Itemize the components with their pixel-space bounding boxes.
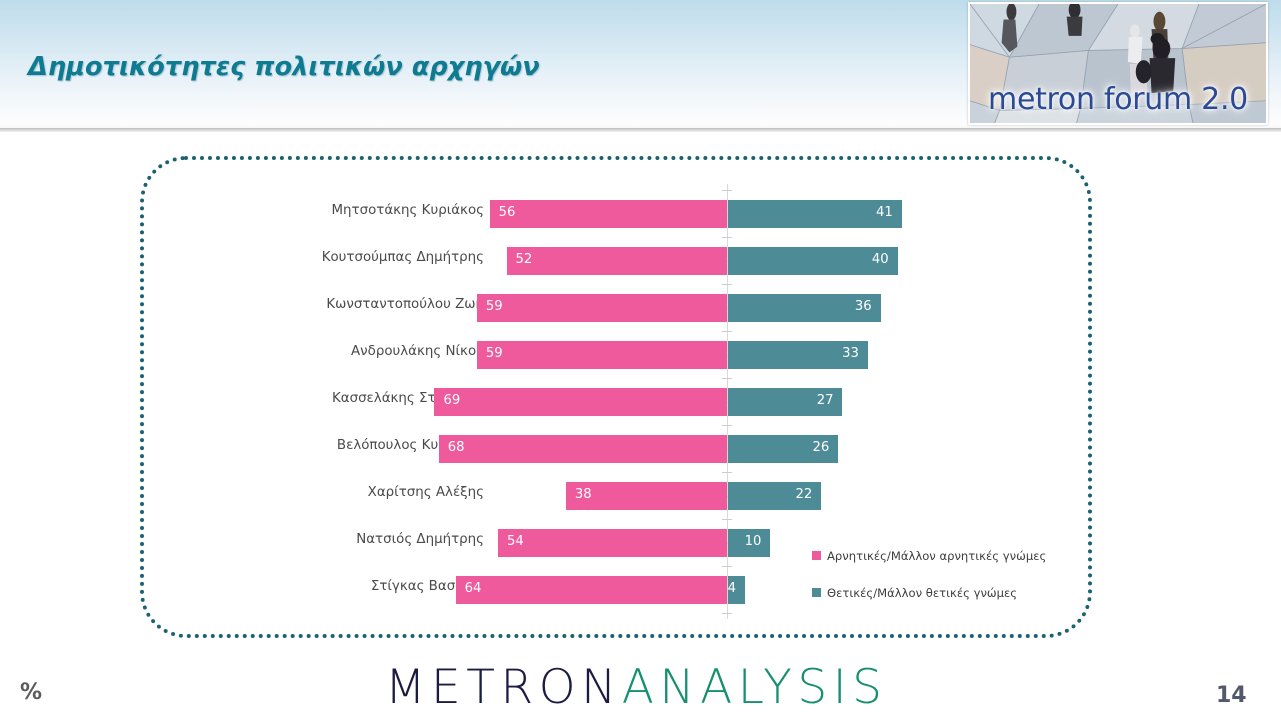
diverging-bar-chart: Μητσοτάκης Κυριάκος5641Κουτσούμπας Δημήτ… bbox=[144, 160, 1096, 642]
brand-analysis: ANALYSIS bbox=[622, 660, 888, 715]
chart-row-label: Κωνσταντοπούλου Ζωή bbox=[326, 297, 484, 312]
bar-negative[interactable]: 69 bbox=[434, 388, 727, 416]
bar-value-negative: 54 bbox=[507, 534, 524, 549]
bar-positive[interactable]: 22 bbox=[728, 482, 821, 510]
bar-negative[interactable]: 38 bbox=[566, 482, 727, 510]
legend-label-negative: Αρνητικές/Μάλλον αρνητικές γνώμες bbox=[827, 549, 1046, 563]
chart-row-label: Μητσοτάκης Κυριάκος bbox=[332, 203, 485, 218]
bar-positive[interactable]: 36 bbox=[728, 294, 881, 322]
legend-item-positive[interactable]: Θετικές/Μάλλον θετικές γνώμες bbox=[812, 582, 1017, 598]
axis-tick bbox=[722, 190, 732, 191]
bar-value-positive: 41 bbox=[876, 205, 893, 220]
bar-value-positive: 33 bbox=[842, 346, 859, 361]
bar-value-positive: 40 bbox=[872, 252, 889, 267]
metron-analysis-logo: METRONANALYSIS bbox=[385, 660, 887, 715]
bar-value-positive: 4 bbox=[728, 581, 736, 596]
bar-value-negative: 52 bbox=[516, 252, 533, 267]
chart-row-label: Κουτσούμπας Δημήτρης bbox=[322, 250, 484, 265]
bar-value-negative: 56 bbox=[499, 205, 516, 220]
chart-row: Κωνσταντοπούλου Ζωή5936 bbox=[144, 287, 1096, 334]
legend-swatch-positive bbox=[812, 588, 821, 597]
header-divider bbox=[0, 128, 1281, 132]
bar-value-positive: 27 bbox=[817, 393, 834, 408]
bar-negative[interactable]: 59 bbox=[477, 294, 727, 322]
legend-label-positive: Θετικές/Μάλλον θετικές γνώμες bbox=[827, 586, 1017, 600]
bar-value-negative: 38 bbox=[575, 487, 592, 502]
bar-value-negative: 59 bbox=[486, 346, 503, 361]
bar-positive[interactable]: 41 bbox=[728, 200, 902, 228]
bar-negative[interactable]: 56 bbox=[490, 200, 727, 228]
bar-value-positive: 22 bbox=[795, 487, 812, 502]
chart-row: Βελόπουλος Κυριάκος6826 bbox=[144, 428, 1096, 475]
chart-row: Κουτσούμπας Δημήτρης5240 bbox=[144, 240, 1096, 287]
chart-card: Μητσοτάκης Κυριάκος5641Κουτσούμπας Δημήτ… bbox=[140, 156, 1092, 638]
bar-value-positive: 10 bbox=[745, 534, 762, 549]
bar-positive[interactable]: 27 bbox=[728, 388, 842, 416]
page-title: Δημοτικότητες πολιτικών αρχηγών bbox=[28, 52, 540, 82]
bar-negative[interactable]: 68 bbox=[439, 435, 727, 463]
bar-negative[interactable]: 52 bbox=[507, 247, 727, 275]
bar-negative[interactable]: 59 bbox=[477, 341, 727, 369]
bar-positive[interactable]: 40 bbox=[728, 247, 898, 275]
bar-value-positive: 26 bbox=[812, 440, 829, 455]
percent-symbol: % bbox=[20, 680, 42, 705]
chart-row: Χαρίτσης Αλέξης3822 bbox=[144, 475, 1096, 522]
bar-negative[interactable]: 54 bbox=[498, 529, 727, 557]
bar-value-positive: 36 bbox=[855, 299, 872, 314]
bar-value-negative: 64 bbox=[465, 581, 482, 596]
legend-swatch-negative bbox=[812, 551, 821, 560]
bar-value-negative: 68 bbox=[448, 440, 465, 455]
bar-positive[interactable]: 4 bbox=[728, 576, 745, 604]
brand-metron: METRON bbox=[385, 660, 622, 715]
bar-positive[interactable]: 26 bbox=[728, 435, 838, 463]
metron-forum-logo: metron forum 2.0 bbox=[968, 2, 1268, 125]
bar-positive[interactable]: 33 bbox=[728, 341, 868, 369]
bar-negative[interactable]: 64 bbox=[456, 576, 727, 604]
page-number: 14 bbox=[1216, 683, 1247, 708]
bar-value-negative: 69 bbox=[443, 393, 460, 408]
logo-text: metron forum 2.0 bbox=[970, 82, 1266, 117]
bar-value-negative: 59 bbox=[486, 299, 503, 314]
chart-row: Ανδρουλάκης Νίκος5933 bbox=[144, 334, 1096, 381]
chart-row-label: Χαρίτσης Αλέξης bbox=[368, 485, 484, 500]
bar-positive[interactable]: 10 bbox=[728, 529, 770, 557]
chart-row-label: Ανδρουλάκης Νίκος bbox=[351, 344, 484, 359]
chart-row: Κασσελάκης Στέφανος6927 bbox=[144, 381, 1096, 428]
legend-item-negative[interactable]: Αρνητικές/Μάλλον αρνητικές γνώμες bbox=[812, 545, 1046, 561]
chart-row: Μητσοτάκης Κυριάκος5641 bbox=[144, 193, 1096, 240]
chart-row-label: Νατσιός Δημήτρης bbox=[356, 532, 484, 547]
